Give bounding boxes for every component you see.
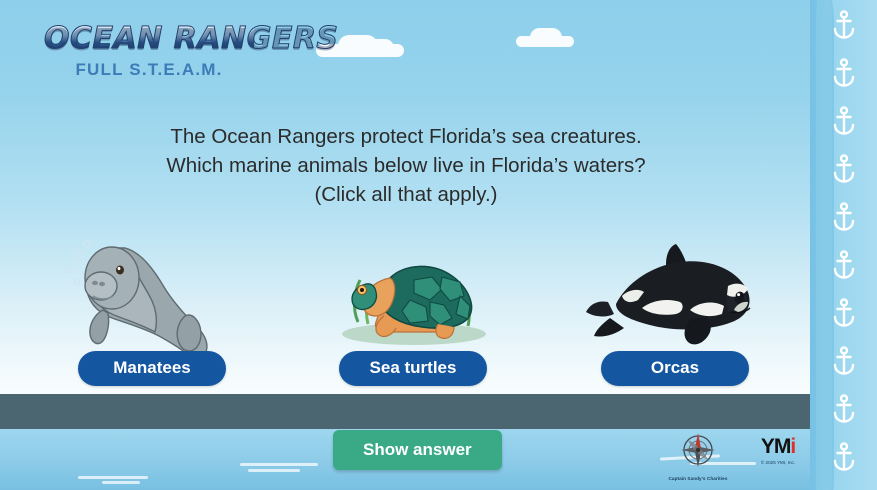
choice-orcas[interactable]: Orcas <box>550 226 800 386</box>
captain-sandys-charities-logo[interactable]: Captain Sandy's Charities <box>668 430 728 481</box>
ymi-letters: YM <box>761 435 791 458</box>
anchor-icon <box>831 106 857 136</box>
charity-name: Captain Sandy's Charities <box>668 476 728 481</box>
choice-label[interactable]: Manatees <box>78 351 226 386</box>
anchor-icon <box>831 250 857 280</box>
ymi-logo[interactable]: YMi © 2025 YMI, Inc. <box>746 436 810 465</box>
question-line-1: The Ocean Rangers protect Florida’s sea … <box>0 122 812 151</box>
question-text: The Ocean Rangers protect Florida’s sea … <box>0 122 812 209</box>
ymi-wordmark: YMi <box>746 436 810 457</box>
choice-sea-turtles[interactable]: Sea turtles <box>288 226 538 386</box>
ymi-copyright: © 2025 YMI, Inc. <box>746 460 810 465</box>
quiz-slide: OCEAN RANGERS FULL S.T.E.A.M. The Ocean … <box>0 0 877 490</box>
wave-line <box>102 481 140 484</box>
brand-logo: OCEAN RANGERS FULL S.T.E.A.M. <box>44 24 254 80</box>
footer-logos: Captain Sandy's Charities YMi © 2025 YMI… <box>660 430 815 488</box>
anchor-icon <box>831 10 857 40</box>
orca-illustration <box>550 226 800 351</box>
wave-line <box>78 476 148 479</box>
wave-line <box>240 463 318 466</box>
anchor-icon <box>831 298 857 328</box>
choice-list: Manatees <box>0 226 812 396</box>
question-line-2: Which marine animals below live in Flori… <box>0 151 812 180</box>
compass-rose-icon <box>678 430 718 470</box>
manatee-illustration <box>27 226 277 351</box>
logo-subtitle: FULL S.T.E.A.M. <box>44 60 254 80</box>
anchor-icon <box>831 394 857 424</box>
sea-turtle-illustration <box>288 226 538 351</box>
choice-label[interactable]: Sea turtles <box>339 351 487 386</box>
footer-band <box>0 394 877 429</box>
cloud-icon <box>516 36 574 47</box>
choice-label[interactable]: Orcas <box>601 351 749 386</box>
anchor-icon <box>831 58 857 88</box>
logo-title: OCEAN RANGERS <box>44 24 254 54</box>
anchor-icon <box>831 346 857 376</box>
show-answer-button[interactable]: Show answer <box>333 430 502 470</box>
ymi-accent: i <box>790 435 795 458</box>
anchor-icon <box>831 442 857 472</box>
anchor-border-strip <box>810 0 877 490</box>
anchor-icon <box>831 202 857 232</box>
question-line-3: (Click all that apply.) <box>0 180 812 209</box>
anchor-list <box>810 10 877 490</box>
choice-manatees[interactable]: Manatees <box>27 226 277 386</box>
wave-line <box>248 469 300 472</box>
anchor-icon <box>831 154 857 184</box>
